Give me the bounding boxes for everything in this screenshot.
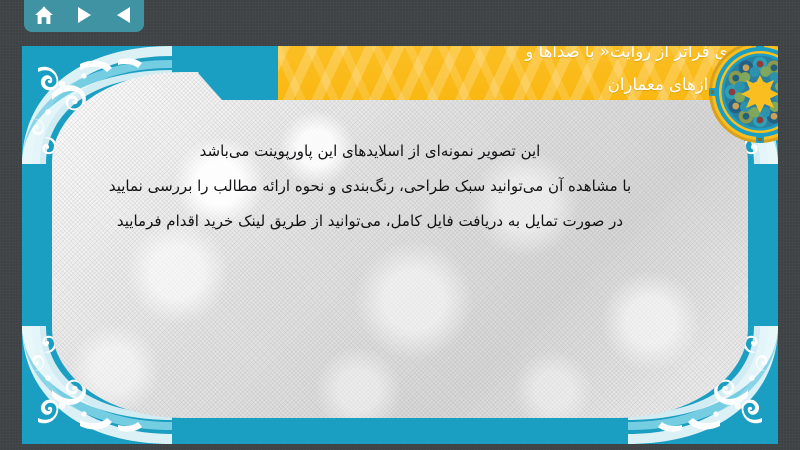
forward-button[interactable] [69,2,99,28]
slide-body-text: این تصویر نمونه‌ای از اسلایدهای این پاور… [62,134,678,239]
triangle-right-icon [76,6,92,24]
body-line-3: در صورت تمایل به دریافت فایل کامل، می‌تو… [62,204,678,239]
triangle-left-icon [116,6,132,24]
home-button[interactable] [29,2,59,28]
banner-arrow-shape-icon [198,46,278,100]
title-line-3: چشم‌اندازهای معماران [302,68,762,101]
persian-medallion-icon [708,46,778,144]
body-line-2: با مشاهده آن می‌توانید سبک طراحی، رنگ‌بن… [62,169,678,204]
slide-content-panel [52,72,748,418]
slide-title: بررسی طراحی معماری روایی؛ نمایشگاه »چیزی… [272,46,778,100]
body-line-1: این تصویر نمونه‌ای از اسلایدهای این پاور… [62,134,678,169]
slide-viewer: این تصویر نمونه‌ای از اسلایدهای این پاور… [0,0,800,450]
navigation-bar [24,0,144,32]
home-icon [34,6,54,25]
title-line-2: »چیزی فراتر از روایت« با صداها و [302,46,762,68]
slide-canvas: این تصویر نمونه‌ای از اسلایدهای این پاور… [22,46,778,444]
back-button[interactable] [109,2,139,28]
